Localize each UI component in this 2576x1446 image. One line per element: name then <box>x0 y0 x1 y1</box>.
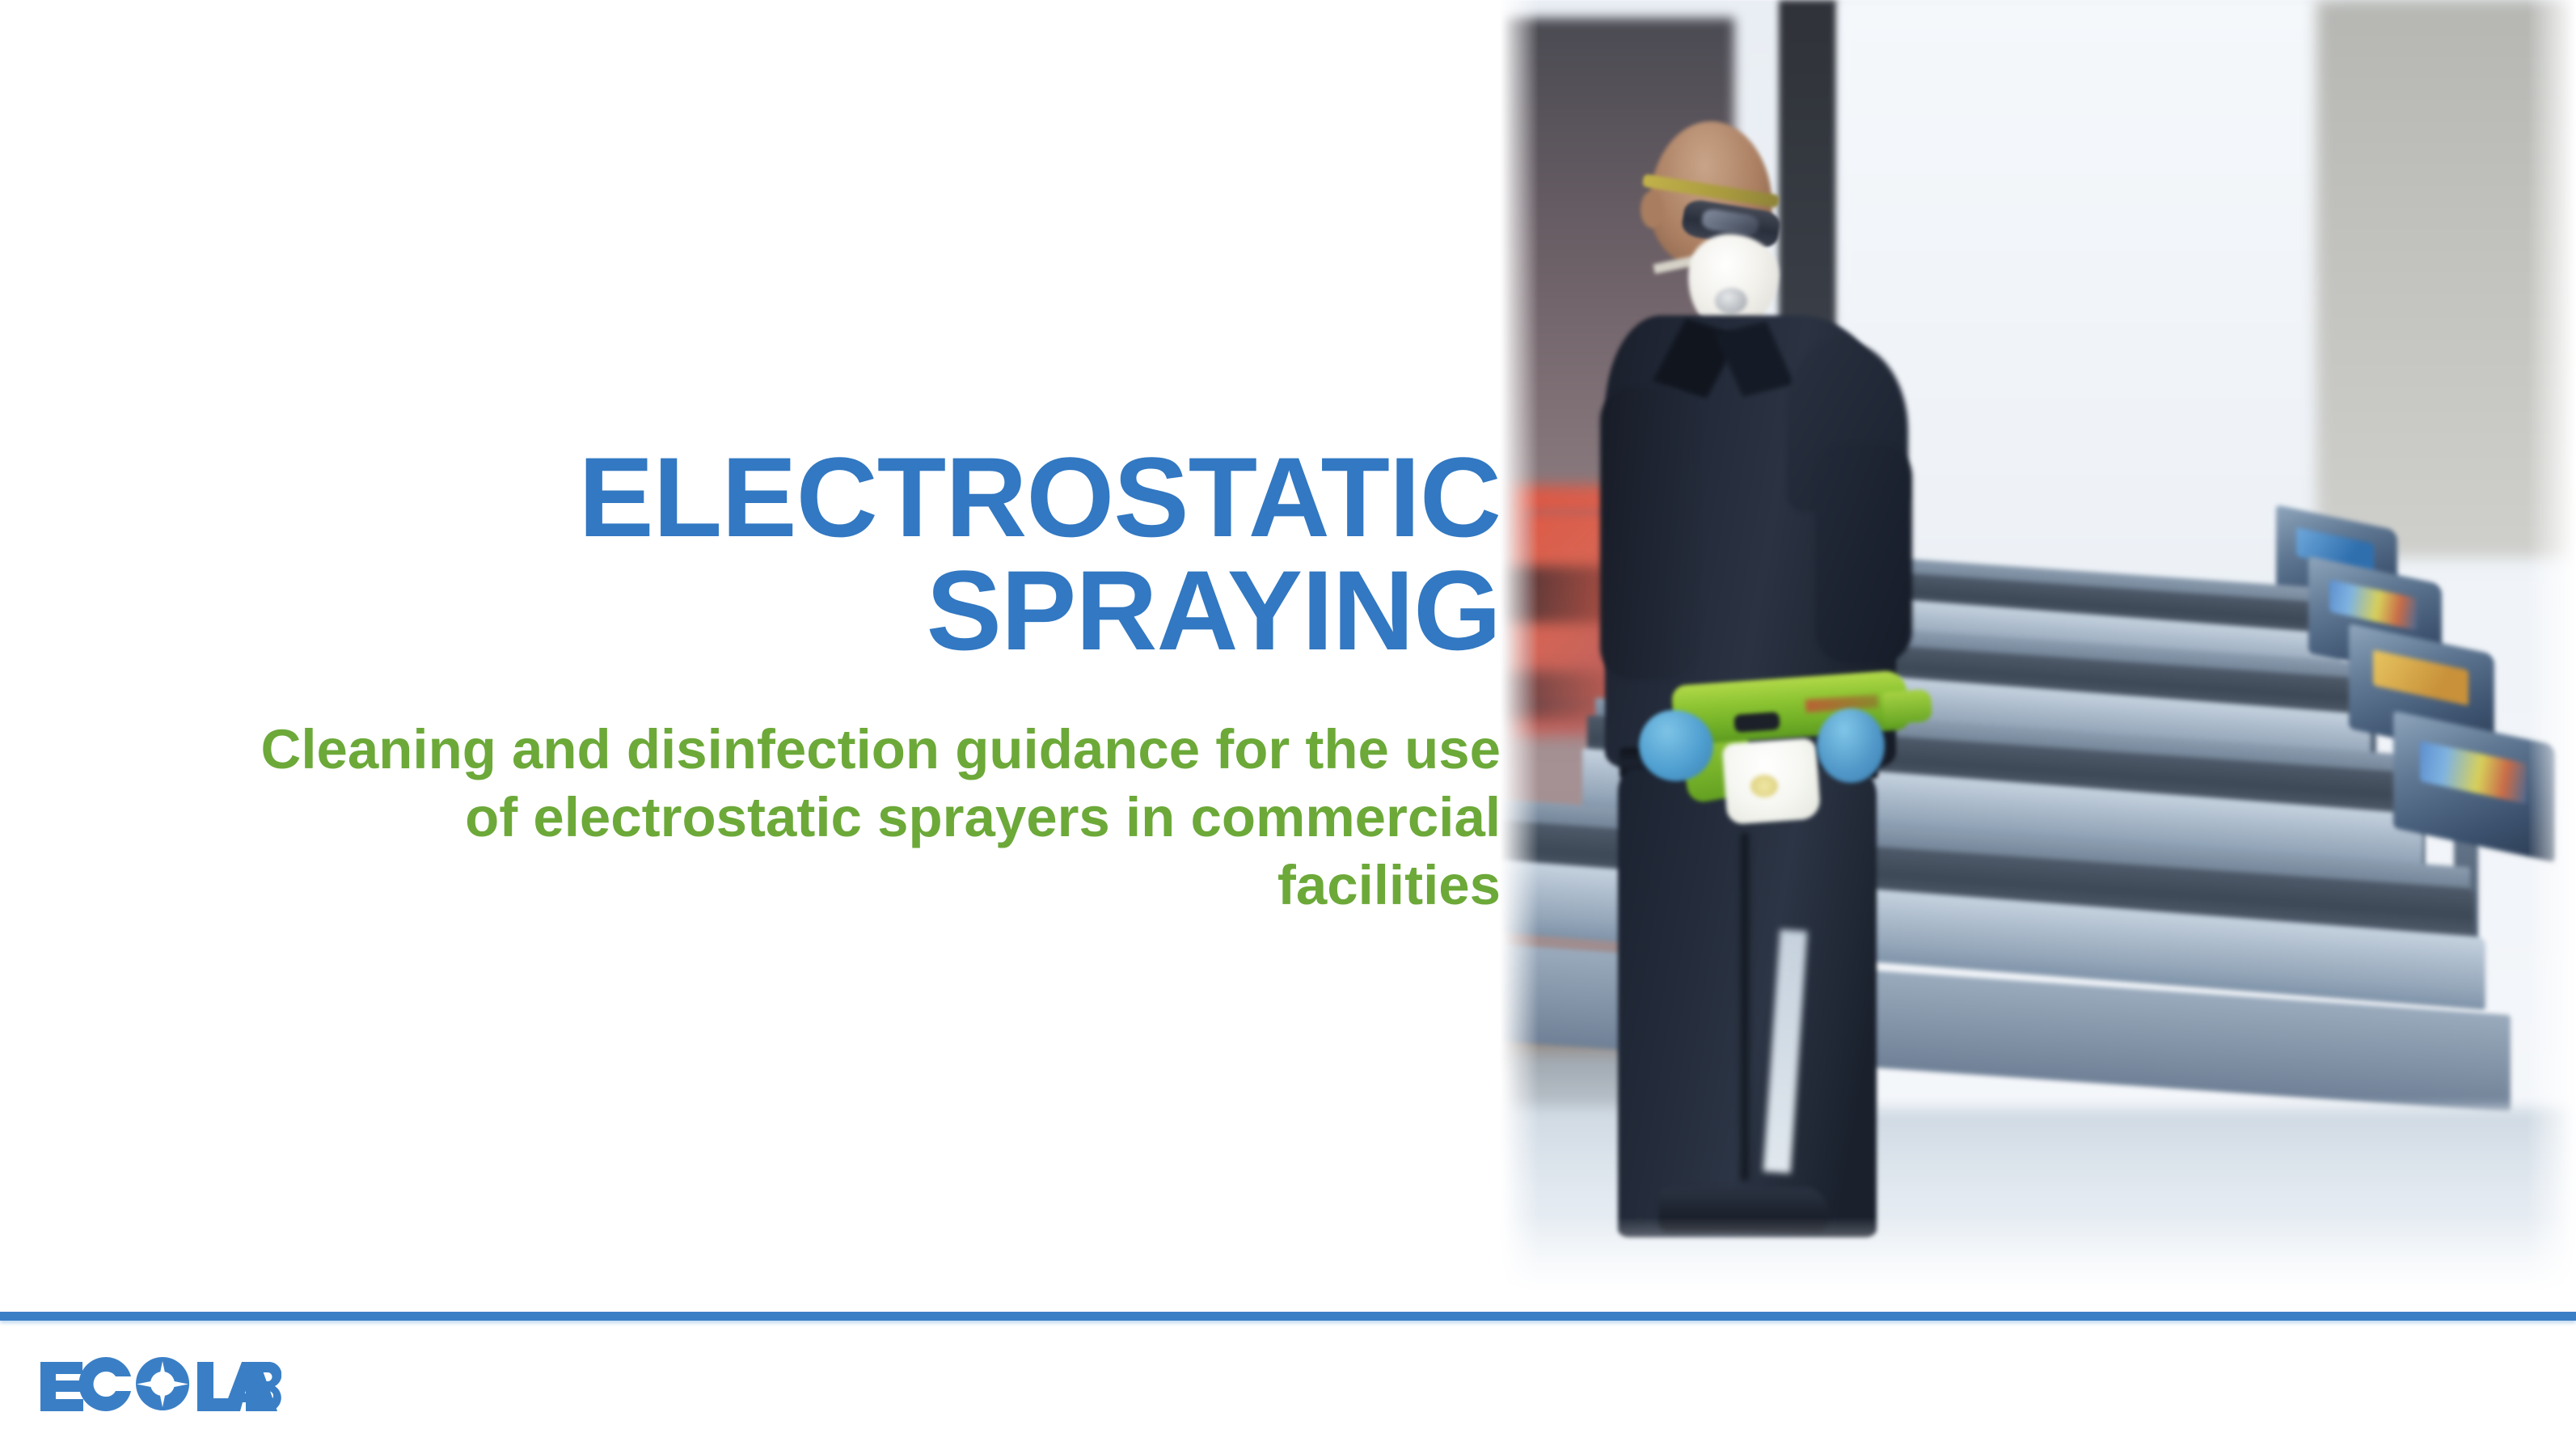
sprayer-nozzle <box>1882 689 1933 725</box>
grey-wall-right <box>2316 0 2576 558</box>
bottle-cap <box>1750 775 1778 797</box>
footer-divider-rule <box>0 1312 2576 1321</box>
page-title-line-2: SPRAYING <box>927 547 1501 674</box>
ecolab-logo: ® <box>39 1357 281 1420</box>
worker-arm-right <box>1815 445 1912 663</box>
page-subtitle: Cleaning and disinfection guidance for t… <box>243 667 1501 920</box>
worker-ear <box>1641 191 1663 228</box>
page-title-line-1: ELECTROSTATIC <box>578 433 1501 560</box>
slide: ELECTROSTATICSPRAYING Cleaning and disin… <box>0 0 2576 1446</box>
hero-photo <box>1500 0 2576 1294</box>
title-block: ELECTROSTATICSPRAYING Cleaning and disin… <box>243 441 1501 920</box>
page-title: ELECTROSTATICSPRAYING <box>243 441 1501 667</box>
worker-figure <box>1605 121 1945 1237</box>
registered-trademark-symbol: ® <box>266 1360 274 1372</box>
ecolab-logo-mark: ® <box>39 1357 281 1420</box>
worker-sleeve-left <box>1600 388 1697 679</box>
pant-seam <box>1741 833 1749 1181</box>
respirator-valve <box>1715 288 1747 314</box>
blue-glove-left <box>1639 710 1713 781</box>
hero-photo-inner <box>1500 0 2576 1294</box>
worker-shoe <box>1658 1187 1828 1232</box>
sprayer-trigger <box>1734 712 1780 733</box>
blue-glove-right <box>1817 708 1885 783</box>
